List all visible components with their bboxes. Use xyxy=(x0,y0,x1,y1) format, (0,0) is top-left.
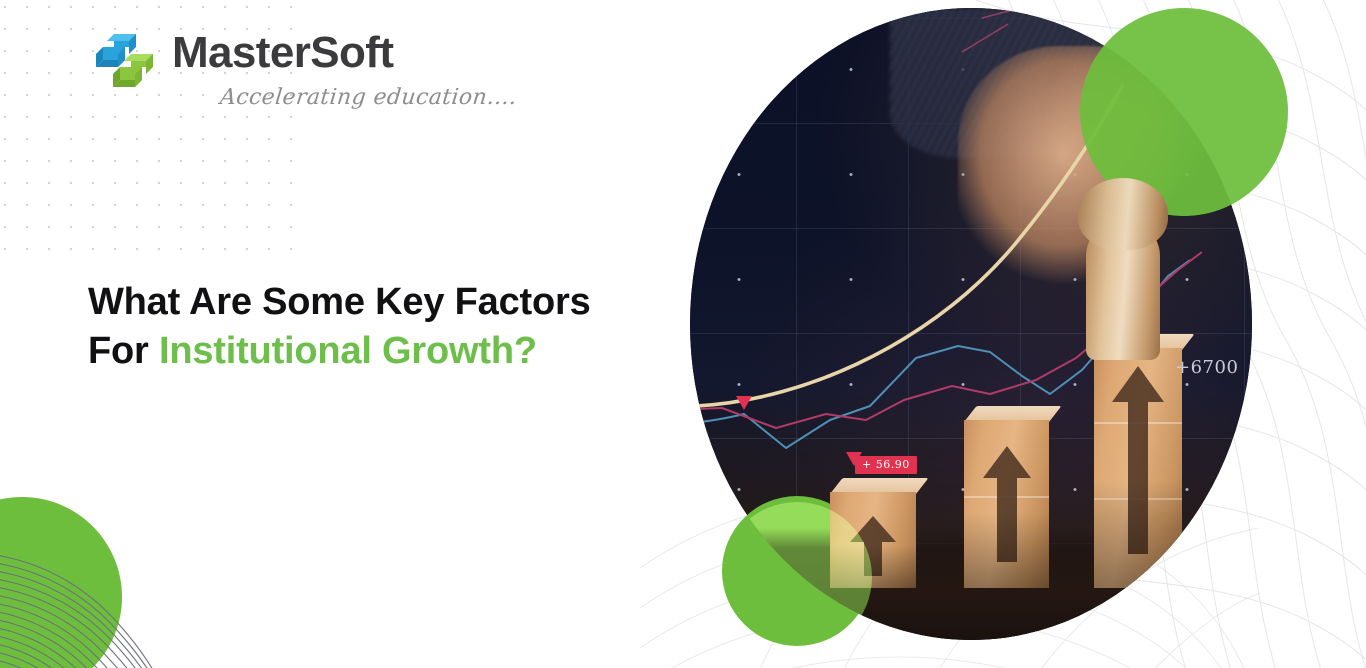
green-circle-overlay-photo xyxy=(722,502,872,640)
block-large xyxy=(1094,348,1182,588)
headline-line-2-plain: For xyxy=(88,330,159,372)
green-circle-bottom-left xyxy=(0,497,122,668)
block-medium xyxy=(964,420,1049,588)
brand-tagline: Accelerating education.... xyxy=(219,85,518,110)
status-badge-change: + 56.90 xyxy=(855,456,917,474)
headline-line-2-accent: Institutional Growth? xyxy=(159,330,537,372)
value-label: +6700 xyxy=(1175,357,1238,378)
headline-line-1: What Are Some Key Factors xyxy=(88,281,591,323)
block-large-shading xyxy=(1094,348,1182,588)
wooden-pawn-head xyxy=(1078,178,1168,250)
page-title: What Are Some Key Factors For Institutio… xyxy=(88,278,648,375)
brand-wordmark: MasterSoft xyxy=(172,31,393,75)
block-medium-shading xyxy=(964,420,1049,588)
banner-canvas: MasterSoft Accelerating education.... Wh… xyxy=(0,0,1366,668)
brand-logo[interactable]: MasterSoft Accelerating education.... xyxy=(90,28,470,118)
mastersoft-arrows-logo-icon xyxy=(90,30,166,90)
